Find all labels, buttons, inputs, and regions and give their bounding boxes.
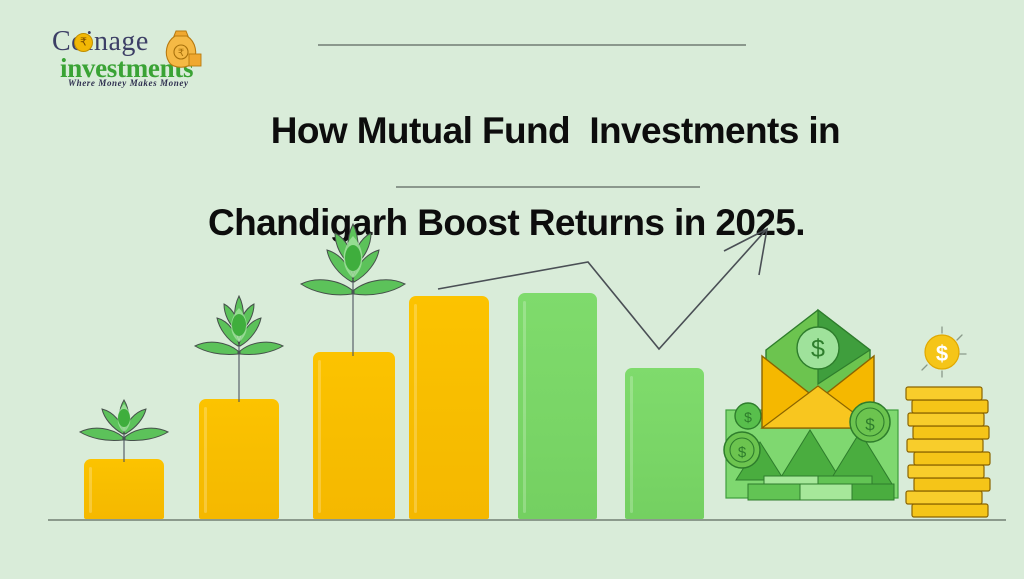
green-coin-left: $ [724, 432, 760, 468]
bar-3 [313, 352, 395, 519]
chart-baseline [48, 519, 1006, 521]
sprout-on-bar-1 [66, 392, 182, 464]
envelope-dollar-symbol: $ [811, 335, 825, 363]
floating-coin-symbol: $ [936, 341, 948, 366]
bar-sheen [630, 376, 633, 513]
bar-sheen [89, 467, 92, 513]
svg-text:$: $ [738, 444, 747, 461]
svg-text:$: $ [865, 415, 875, 434]
bar-sheen [318, 360, 321, 513]
coin-stack [898, 372, 1002, 520]
floating-coin: $ [914, 324, 970, 380]
bar-6 [625, 368, 704, 519]
green-coin-right: $ [850, 402, 890, 442]
brand-logo[interactable]: Coinage investments Where Money Makes Mo… [52, 26, 212, 88]
divider-bottom [396, 186, 700, 188]
brand-tagline: Where Money Makes Money [68, 78, 189, 88]
sprout-on-bar-3 [281, 218, 425, 358]
sprout-on-bar-2 [181, 292, 297, 404]
bar-2 [199, 399, 279, 519]
page-title-line-1: How Mutual Fund Investments in [271, 110, 840, 151]
infographic-canvas: Coinage investments Where Money Makes Mo… [0, 0, 1024, 579]
rupee-coin-icon [74, 33, 93, 52]
money-bag-icon: ₹ [160, 28, 202, 74]
bar-1 [84, 459, 164, 519]
divider-top [318, 44, 746, 46]
bar-sheen [204, 407, 207, 513]
svg-text:₹: ₹ [178, 48, 184, 59]
money-illustration: $ $ $ $ [718, 300, 918, 520]
green-coin-symbol: $ [744, 409, 752, 425]
